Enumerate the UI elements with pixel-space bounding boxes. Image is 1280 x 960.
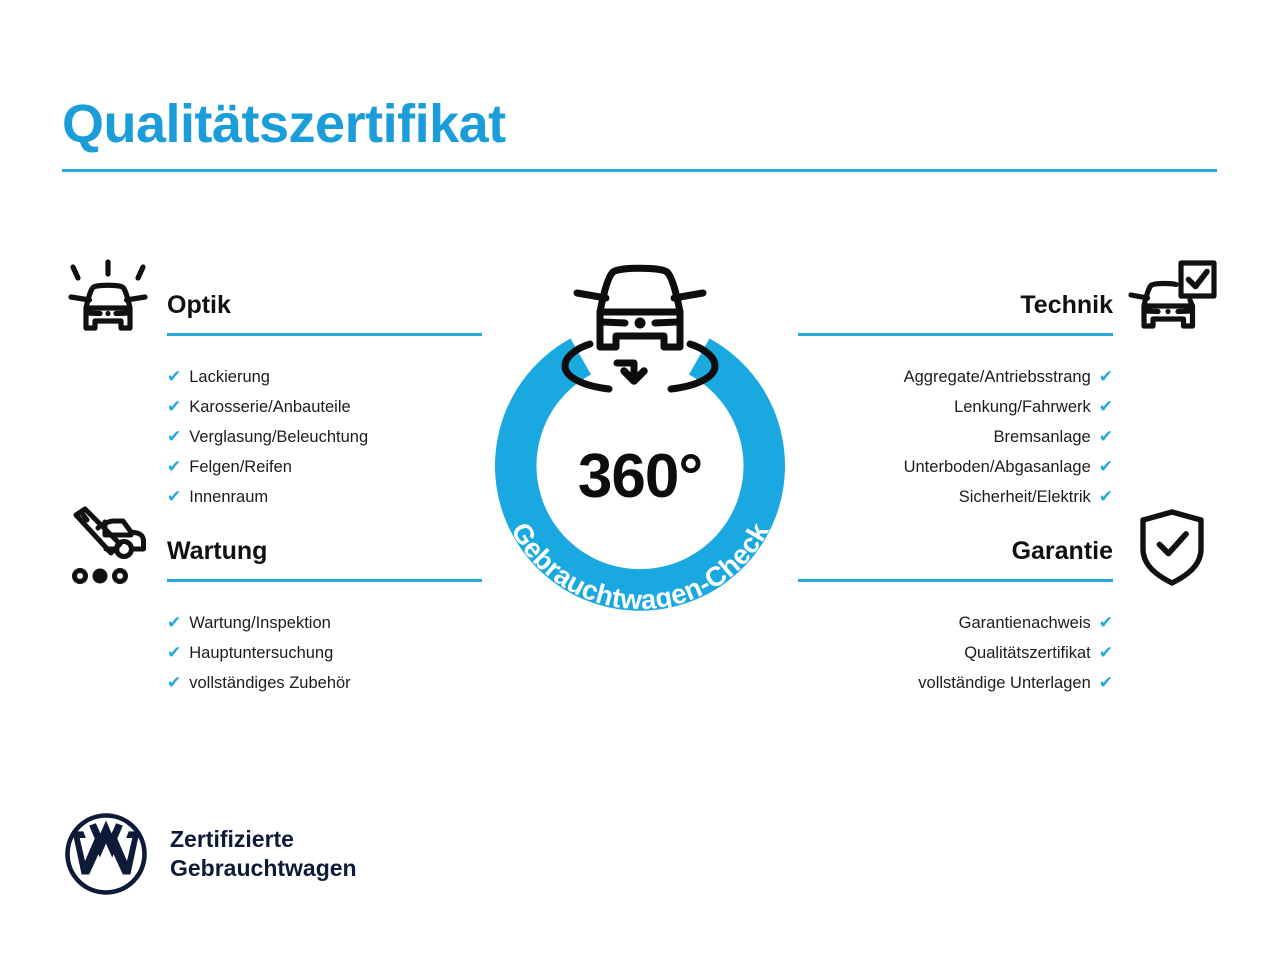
volkswagen-logo [64, 812, 148, 896]
page-title: Qualitätszertifikat [62, 96, 506, 153]
section-optik: Optik ✔Lackierung ✔Karosserie/Anbauteile… [62, 256, 482, 512]
check-icon: ✔ [167, 668, 181, 698]
section-garantie-header: Garantie [798, 502, 1218, 594]
list-item: ✔Verglasung/Beleuchtung [62, 422, 482, 452]
section-wartung-list: ✔Wartung/Inspektion ✔Hauptuntersuchung ✔… [62, 608, 482, 698]
check-icon: ✔ [167, 608, 181, 638]
list-item-label: Bremsanlage [994, 422, 1091, 452]
list-item-label: Felgen/Reifen [189, 452, 292, 482]
list-item: ✔vollständiges Zubehör [62, 668, 482, 698]
check-icon: ✔ [1099, 668, 1113, 698]
check-icon: ✔ [1099, 608, 1113, 638]
section-technik-header: Technik [798, 256, 1218, 348]
list-item: ✔Lackierung [62, 362, 482, 392]
header-divider [62, 169, 1217, 172]
check-icon: ✔ [167, 638, 181, 668]
check-icon: ✔ [1099, 362, 1113, 392]
shield-check-icon [1126, 502, 1218, 594]
list-item-label: Aggregate/Antriebsstrang [904, 362, 1091, 392]
list-item-label: Qualitätszertifikat [964, 638, 1091, 668]
list-item: ✔Felgen/Reifen [62, 452, 482, 482]
badge-degrees-label: 360° [466, 446, 814, 508]
section-technik-title: Technik [1020, 291, 1113, 320]
list-item: vollständige Unterlagen✔ [798, 668, 1218, 698]
car-checkbox-icon [1126, 256, 1218, 348]
list-item-label: vollständige Unterlagen [918, 668, 1090, 698]
section-optik-divider [167, 333, 482, 336]
footer-brand-line-2: Gebrauchtwagen [170, 854, 357, 883]
list-item: ✔Hauptuntersuchung [62, 638, 482, 668]
check-icon: ✔ [167, 362, 181, 392]
section-wartung-header: Wartung [62, 502, 482, 594]
check-icon: ✔ [167, 422, 181, 452]
list-item-label: Hauptuntersuchung [189, 638, 333, 668]
section-garantie-list: Garantienachweis✔ Qualitätszertifikat✔ v… [798, 608, 1218, 698]
section-wartung-divider [167, 579, 482, 582]
check-icon: ✔ [167, 452, 181, 482]
list-item-label: Lackierung [189, 362, 270, 392]
list-item-label: Wartung/Inspektion [189, 608, 331, 638]
list-item-label: Verglasung/Beleuchtung [189, 422, 368, 452]
list-item: ✔Wartung/Inspektion [62, 608, 482, 638]
section-optik-header: Optik [62, 256, 482, 348]
footer-brand-line-1: Zertifizierte [170, 825, 357, 854]
section-technik: Technik Aggregate/Antriebsstrang✔ Lenkun… [798, 256, 1218, 512]
list-item-label: Lenkung/Fahrwerk [954, 392, 1091, 422]
list-item-label: vollständiges Zubehör [189, 668, 350, 698]
footer-brand-text: Zertifizierte Gebrauchtwagen [170, 825, 357, 884]
car-shine-icon [62, 256, 154, 348]
check-icon: ✔ [1099, 392, 1113, 422]
badge-360-gebrauchtwagen-check: Gebrauchtwagen-Check 360° [466, 250, 814, 640]
section-garantie-divider [798, 579, 1113, 582]
list-item: Aggregate/Antriebsstrang✔ [798, 362, 1218, 392]
check-icon: ✔ [167, 392, 181, 422]
section-wartung: Wartung ✔Wartung/Inspektion ✔Hauptunters… [62, 502, 482, 698]
check-icon: ✔ [1099, 452, 1113, 482]
section-optik-title: Optik [167, 291, 231, 320]
list-item: Unterboden/Abgasanlage✔ [798, 452, 1218, 482]
list-item: Qualitätszertifikat✔ [798, 638, 1218, 668]
section-garantie: Garantie Garantienachweis✔ Qualitätszert… [798, 502, 1218, 698]
pencil-car-service-icon [62, 502, 154, 594]
list-item: Garantienachweis✔ [798, 608, 1218, 638]
section-garantie-title: Garantie [1012, 537, 1113, 566]
list-item-label: Karosserie/Anbauteile [189, 392, 350, 422]
list-item-label: Garantienachweis [959, 608, 1091, 638]
check-icon: ✔ [1099, 638, 1113, 668]
footer-brand-lockup: Zertifizierte Gebrauchtwagen [64, 812, 357, 896]
list-item: Bremsanlage✔ [798, 422, 1218, 452]
section-technik-divider [798, 333, 1113, 336]
list-item-label: Unterboden/Abgasanlage [904, 452, 1091, 482]
section-wartung-title: Wartung [167, 537, 267, 566]
section-technik-list: Aggregate/Antriebsstrang✔ Lenkung/Fahrwe… [798, 362, 1218, 512]
list-item: ✔Karosserie/Anbauteile [62, 392, 482, 422]
section-optik-list: ✔Lackierung ✔Karosserie/Anbauteile ✔Verg… [62, 362, 482, 512]
list-item: Lenkung/Fahrwerk✔ [798, 392, 1218, 422]
check-icon: ✔ [1099, 422, 1113, 452]
